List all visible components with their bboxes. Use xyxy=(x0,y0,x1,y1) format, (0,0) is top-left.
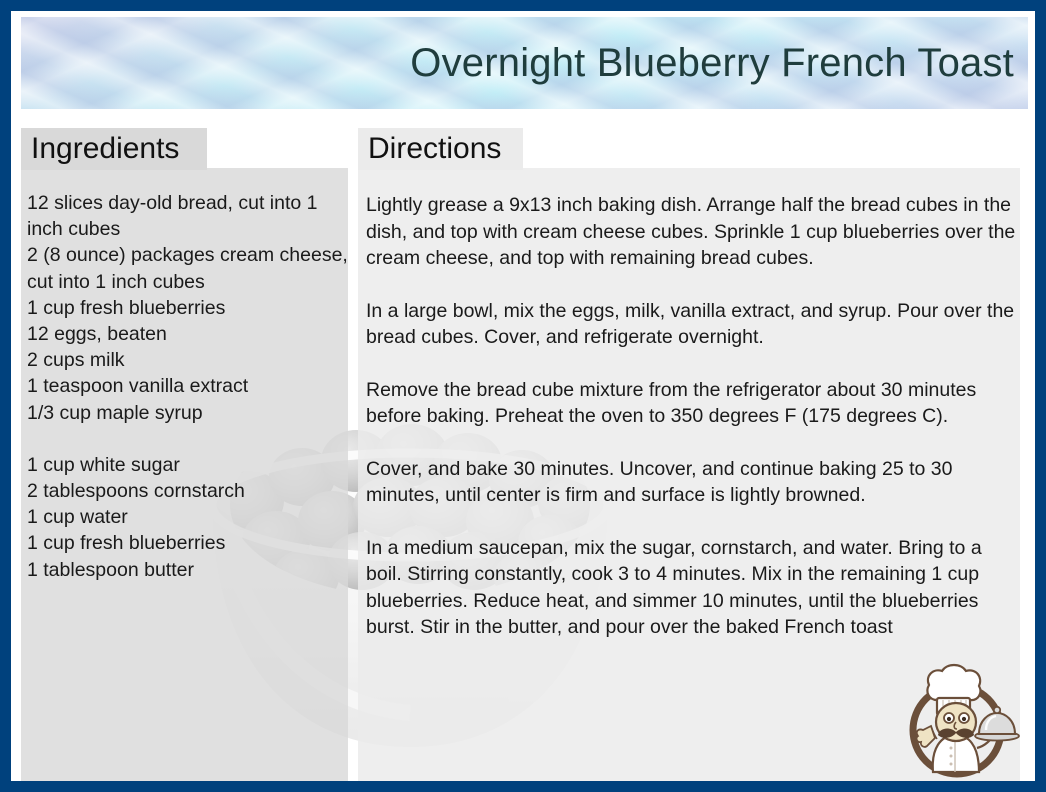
page-title: Overnight Blueberry French Toast xyxy=(410,43,1028,83)
list-item: 2 tablespoons cornstarch xyxy=(27,478,349,504)
direction-step: In a large bowl, mix the eggs, milk, van… xyxy=(366,298,1016,351)
list-item: 2 (8 ounce) packages cream cheese, cut i… xyxy=(27,242,349,294)
frame-top-border xyxy=(0,0,1046,11)
directions-heading: Directions xyxy=(358,134,501,164)
direction-step: Lightly grease a 9x13 inch baking dish. … xyxy=(366,192,1016,272)
list-item: 1 cup fresh blueberries xyxy=(27,295,349,321)
list-item: 1 cup water xyxy=(27,504,349,530)
frame-left-border xyxy=(0,0,11,792)
directions-steps: Lightly grease a 9x13 inch baking dish. … xyxy=(366,192,1016,641)
list-item: 12 eggs, beaten xyxy=(27,321,349,347)
ingredients-header-tab: Ingredients xyxy=(21,128,207,170)
ingredients-group-separator xyxy=(27,426,349,452)
ingredients-list: 12 slices day-old bread, cut into 1 inch… xyxy=(27,190,349,583)
direction-step: Remove the bread cube mixture from the r… xyxy=(366,377,1016,430)
frame-bottom-border xyxy=(0,781,1046,792)
ingredients-heading: Ingredients xyxy=(21,134,179,164)
direction-step: In a medium saucepan, mix the sugar, cor… xyxy=(366,535,1016,641)
direction-step: Cover, and bake 30 minutes. Uncover, and… xyxy=(366,456,1016,509)
recipe-card: Overnight Blueberry French Toast Ingredi… xyxy=(0,0,1046,792)
frame-right-border xyxy=(1035,0,1046,792)
title-banner: Overnight Blueberry French Toast xyxy=(21,17,1028,109)
list-item: 1/3 cup maple syrup xyxy=(27,400,349,426)
list-item: 1 tablespoon butter xyxy=(27,557,349,583)
list-item: 1 cup fresh blueberries xyxy=(27,530,349,556)
list-item: 2 cups milk xyxy=(27,347,349,373)
list-item: 1 cup white sugar xyxy=(27,452,349,478)
list-item: 1 teaspoon vanilla extract xyxy=(27,373,349,399)
chef-logo-icon xyxy=(893,660,1021,782)
directions-header-tab: Directions xyxy=(358,128,523,170)
list-item: 12 slices day-old bread, cut into 1 inch… xyxy=(27,190,349,242)
